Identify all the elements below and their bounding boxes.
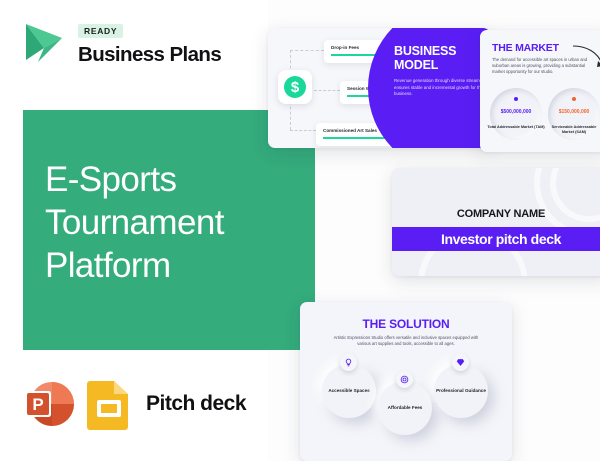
slide-title: BUSINESS MODEL xyxy=(394,45,484,72)
flow-connector-middle xyxy=(314,90,340,91)
target-icon xyxy=(396,371,413,388)
slide-body: The demand for accessible art spaces in … xyxy=(492,57,596,76)
metric-circle-tam: $500,000,000 xyxy=(490,88,542,140)
play-triangle-logo xyxy=(22,18,68,66)
slide-body: Artistic Expressions Studio offers versa… xyxy=(331,335,481,347)
slide-business-model[interactable]: $ Drop-in Fees Session Workshops Commiss… xyxy=(268,28,490,148)
solution-node-professional-guidance[interactable]: Professional Guidance xyxy=(434,364,488,418)
slide-market[interactable]: THE MARKET The demand for accessible art… xyxy=(480,30,600,152)
brand-lockup[interactable]: READY Business Plans xyxy=(22,18,221,67)
slide-title: THE MARKET xyxy=(492,42,559,54)
brand-name: Business Plans xyxy=(78,43,221,67)
slide-title: COMPANY NAME xyxy=(392,208,600,220)
node-label: Accessible Spaces xyxy=(328,388,369,394)
powerpoint-icon[interactable]: P xyxy=(22,378,74,430)
poster-canvas: $ Drop-in Fees Session Workshops Commiss… xyxy=(0,0,600,461)
slide-solution[interactable]: THE SOLUTION Artistic Expressions Studio… xyxy=(300,302,512,461)
ready-badge: READY xyxy=(78,24,123,39)
metric-dot xyxy=(514,97,518,101)
google-slides-icon[interactable] xyxy=(86,378,132,430)
metric-value: $150,000,000 xyxy=(548,109,600,115)
metric-label-tam: Total Addressable Market (TAM) xyxy=(487,125,545,130)
page-title: E-Sports Tournament Platform xyxy=(45,158,305,287)
svg-text:P: P xyxy=(32,395,43,414)
slide-title: THE SOLUTION xyxy=(300,317,512,331)
solution-node-accessible-spaces[interactable]: Accessible Spaces xyxy=(322,364,376,418)
dollar-symbol: $ xyxy=(284,76,306,98)
flow-connector-top xyxy=(290,50,324,51)
slide-body: Revenue generation through diverse strea… xyxy=(394,78,484,98)
underline-bar xyxy=(323,137,391,139)
metric-label-sam: Serviceable Addressable Market (SAM) xyxy=(545,125,600,136)
dollar-sign-icon: $ xyxy=(278,70,312,104)
subtitle-band: Investor pitch deck xyxy=(392,227,600,251)
slide-subtitle: Investor pitch deck xyxy=(441,231,561,247)
solution-node-affordable-fees[interactable]: Affordable Fees xyxy=(378,381,432,435)
business-model-panel: BUSINESS MODEL Revenue generation throug… xyxy=(368,28,490,148)
format-row: P Pitch deck xyxy=(22,378,246,430)
lightbulb-icon xyxy=(340,354,357,371)
metric-dot xyxy=(572,97,576,101)
slide-company-name[interactable]: COMPANY NAME Investor pitch deck xyxy=(392,168,600,276)
metric-value: $500,000,000 xyxy=(490,109,542,115)
flow-connector-bottom xyxy=(290,130,316,131)
format-label: Pitch deck xyxy=(146,392,246,416)
node-label: Professional Guidance xyxy=(436,388,486,394)
node-label: Affordable Fees xyxy=(388,405,423,411)
diamond-icon xyxy=(452,354,469,371)
